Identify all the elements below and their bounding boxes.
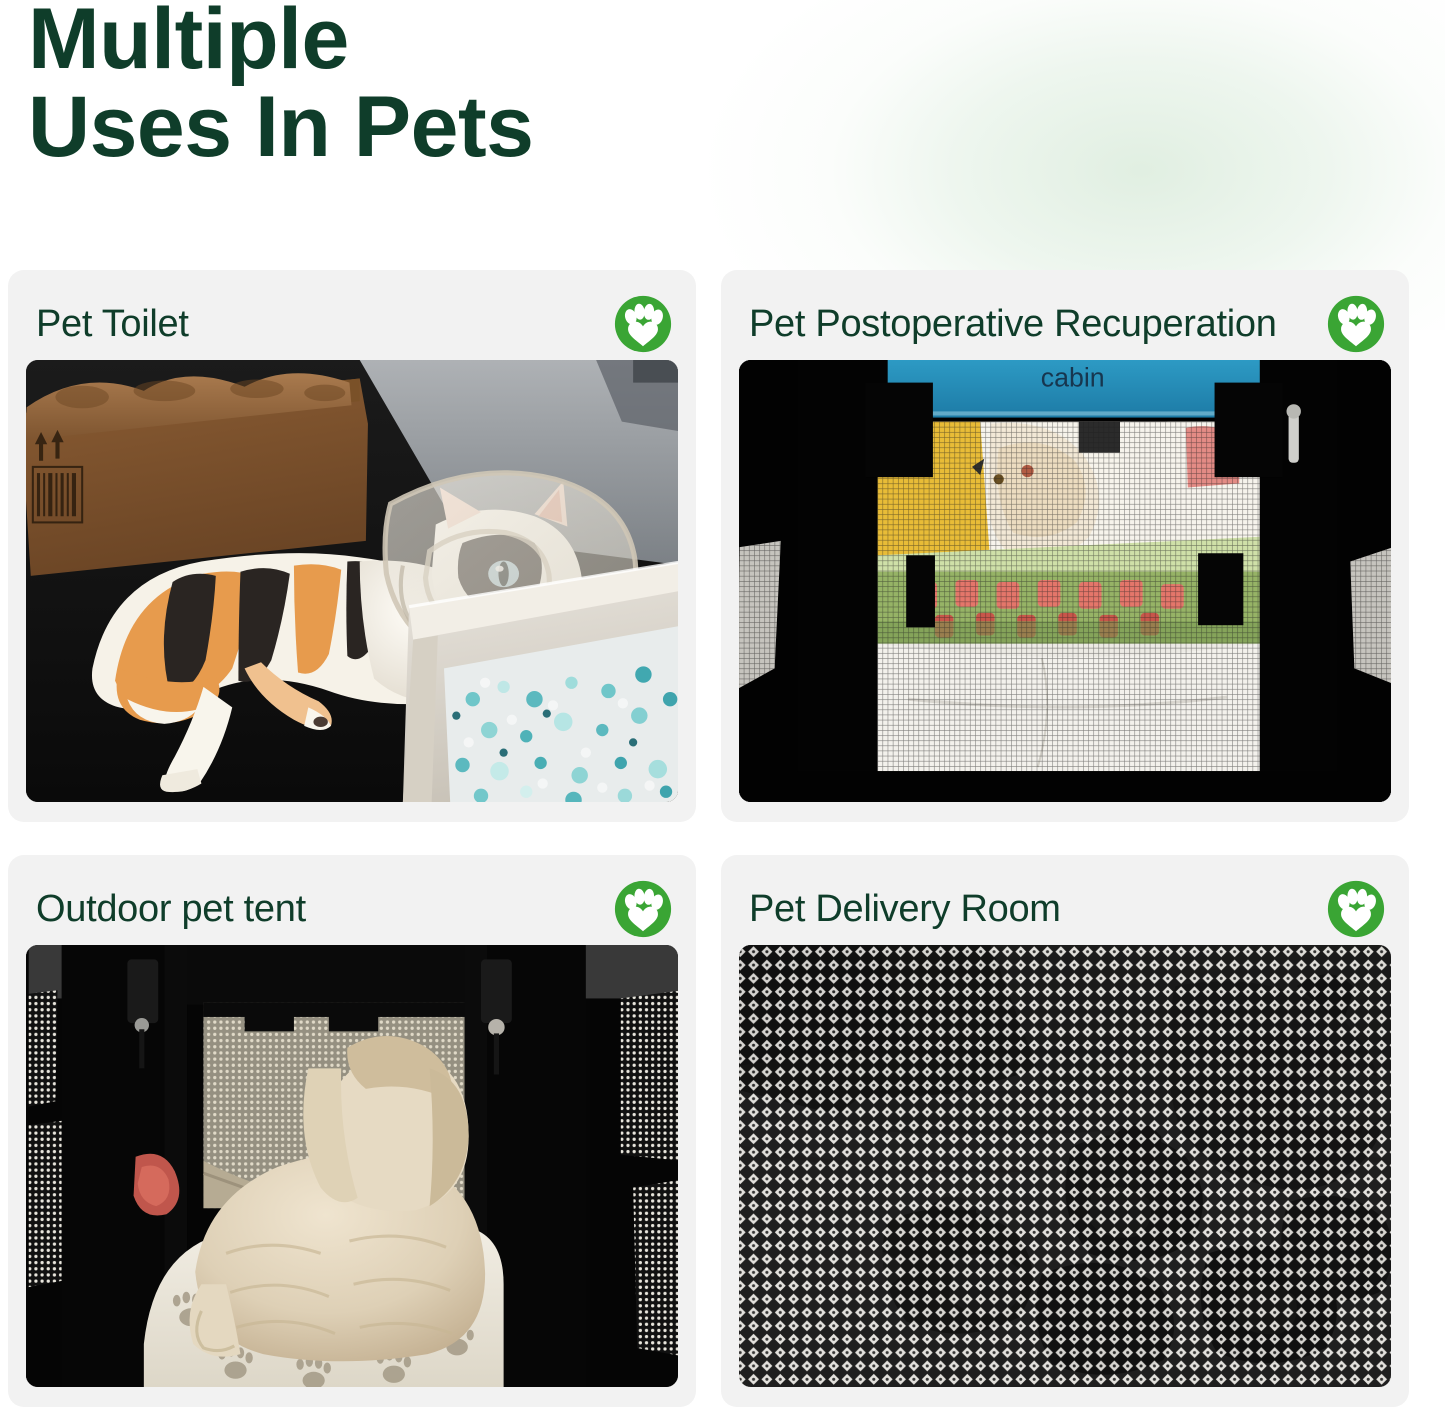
photo-dog-in-tent — [26, 945, 678, 1387]
paw-icon — [1327, 295, 1385, 353]
poster-root: Multiple Uses In Pets Pet Toilet — [0, 0, 1445, 1414]
paw-icon — [614, 295, 672, 353]
card-header: Pet Toilet — [26, 288, 678, 360]
page-title: Multiple Uses In Pets — [28, 0, 728, 171]
use-case-grid: Pet Toilet — [8, 270, 1437, 1407]
card-title: Pet Delivery Room — [749, 888, 1061, 931]
card-title: Outdoor pet tent — [36, 888, 306, 931]
paw-icon — [614, 880, 672, 938]
card-title: Pet Postoperative Recuperation — [749, 303, 1277, 346]
photo-carrier-hammock: cabin — [739, 360, 1391, 802]
card-title: Pet Toilet — [36, 303, 189, 346]
use-case-card-pet-toilet[interactable]: Pet Toilet — [8, 270, 696, 822]
use-case-card-outdoor-pet-tent[interactable]: Outdoor pet tent — [8, 855, 696, 1407]
card-header: Pet Delivery Room — [739, 873, 1391, 945]
card-header: Outdoor pet tent — [26, 873, 678, 945]
use-case-card-pet-delivery-room[interactable]: Pet Delivery Room — [721, 855, 1409, 1407]
use-case-card-pet-postoperative-recuperation[interactable]: Pet Postoperative Recuperation — [721, 270, 1409, 822]
paw-icon — [1327, 880, 1385, 938]
photo-cat-cone-litter-box — [26, 360, 678, 802]
photo-cat-with-kittens-behind-mesh — [739, 945, 1391, 1387]
card-header: Pet Postoperative Recuperation — [739, 288, 1391, 360]
